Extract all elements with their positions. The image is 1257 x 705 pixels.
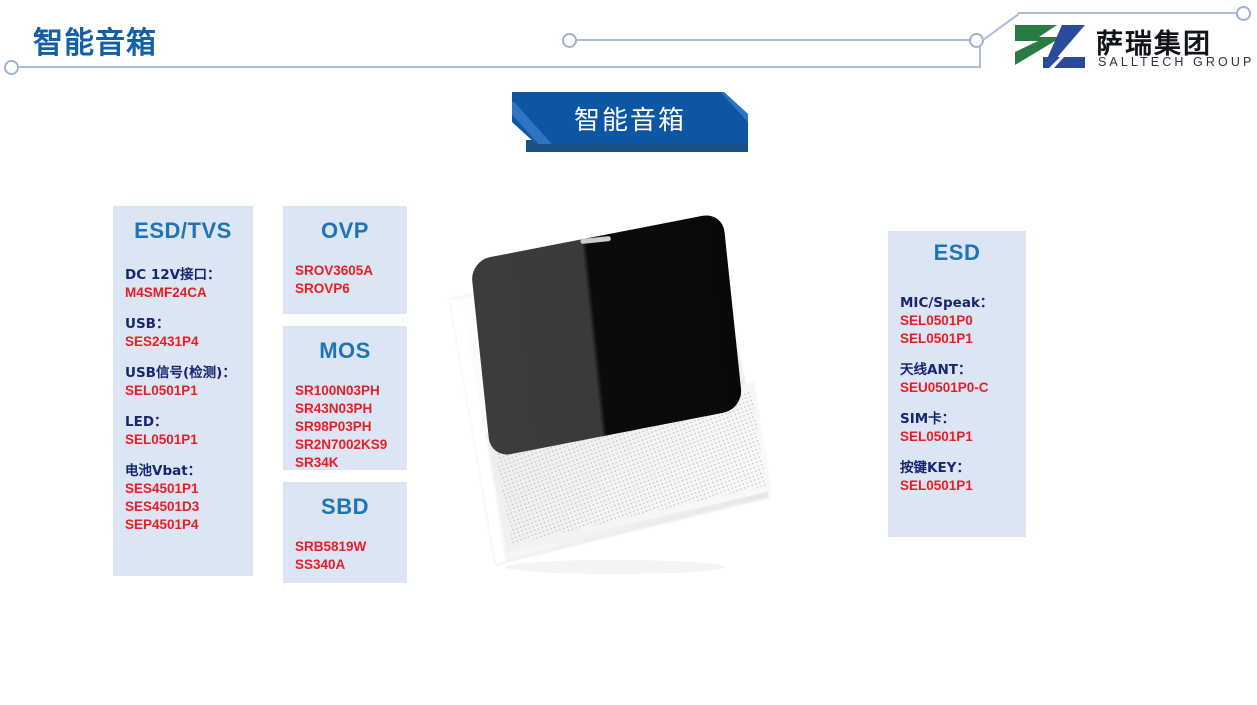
part-group-label: SIM卡： <box>900 410 1014 428</box>
card-body: SR100N03PH SR43N03PH SR98P03PH SR2N7002K… <box>283 364 407 472</box>
part-group: LED： SEL0501P1 <box>125 413 241 449</box>
part-number: SR100N03PH <box>295 382 395 400</box>
company-logo: 萨瑞集团 SALLTECH GROUP <box>1014 22 1244 74</box>
logo-company-name-en: SALLTECH GROUP <box>1098 55 1254 69</box>
card-title: MOS <box>283 326 407 364</box>
card-ovp[interactable]: OVP SROV3605A SROVP6 <box>283 206 407 314</box>
part-number: SEU0501P0-C <box>900 379 1014 397</box>
part-group: SIM卡： SEL0501P1 <box>900 410 1014 446</box>
part-number: SROVP6 <box>295 280 395 298</box>
part-number: SES4501P1 <box>125 480 241 498</box>
part-group-label: MIC/Speak： <box>900 294 1014 312</box>
part-number: SR34K <box>295 454 395 472</box>
header-line-left-circle <box>4 60 19 75</box>
part-number: SEL0501P1 <box>125 431 241 449</box>
card-sbd[interactable]: SBD SRB5819W SS340A <box>283 482 407 583</box>
card-body: SROV3605A SROVP6 <box>283 244 407 298</box>
card-title: SBD <box>283 482 407 520</box>
part-group-label: DC 12V接口： <box>125 266 241 284</box>
part-number: SR2N7002KS9 <box>295 436 395 454</box>
part-number: SR43N03PH <box>295 400 395 418</box>
part-number: SROV3605A <box>295 262 395 280</box>
header-line-upper <box>576 39 976 41</box>
part-group-label: 天线ANT： <box>900 361 1014 379</box>
card-title: ESD/TVS <box>113 206 253 244</box>
part-number: M4SMF24CA <box>125 284 241 302</box>
part-group-label: 电池Vbat： <box>125 462 241 480</box>
part-group-label: USB： <box>125 315 241 333</box>
page-header: 智能音箱 萨瑞集团 SALLTECH GROUP <box>0 0 1257 90</box>
page-title: 智能音箱 <box>33 18 157 62</box>
part-group: USB： SES2431P4 <box>125 315 241 351</box>
part-group: MIC/Speak： SEL0501P0 SEL0501P1 <box>900 294 1014 348</box>
part-number: SEL0501P1 <box>125 382 241 400</box>
part-group-label: LED： <box>125 413 241 431</box>
card-esd-tvs[interactable]: ESD/TVS DC 12V接口： M4SMF24CA USB： SES2431… <box>113 206 253 576</box>
card-body: SRB5819W SS340A <box>283 520 407 574</box>
card-mos[interactable]: MOS SR100N03PH SR43N03PH SR98P03PH SR2N7… <box>283 326 407 470</box>
card-esd[interactable]: ESD MIC/Speak： SEL0501P0 SEL0501P1 天线ANT… <box>888 231 1026 537</box>
header-line-right-node-circle <box>969 33 984 48</box>
product-image-smart-speaker <box>440 215 785 595</box>
banner-label: 智能音箱 <box>512 92 748 144</box>
salltech-logo-mark <box>1014 24 1086 70</box>
part-group-label: 按键KEY： <box>900 459 1014 477</box>
header-line-far-right-circle <box>1236 6 1251 21</box>
part-number: SS340A <box>295 556 395 574</box>
card-body: MIC/Speak： SEL0501P0 SEL0501P1 天线ANT： SE… <box>888 266 1026 495</box>
part-group-label: USB信号(检测)： <box>125 364 241 382</box>
header-line-lower <box>18 66 981 68</box>
header-line-mid-circle <box>562 33 577 48</box>
section-banner: 智能音箱 <box>512 92 752 154</box>
part-group: SROV3605A SROVP6 <box>295 262 395 298</box>
part-number: SR98P03PH <box>295 418 395 436</box>
part-group: 按键KEY： SEL0501P1 <box>900 459 1014 495</box>
part-number: SES4501D3 <box>125 498 241 516</box>
part-group: SRB5819W SS340A <box>295 538 395 574</box>
part-group: DC 12V接口： M4SMF24CA <box>125 266 241 302</box>
part-number: SEL0501P1 <box>900 428 1014 446</box>
part-number: SRB5819W <box>295 538 395 556</box>
part-group: USB信号(检测)： SEL0501P1 <box>125 364 241 400</box>
part-group: 天线ANT： SEU0501P0-C <box>900 361 1014 397</box>
part-group: 电池Vbat： SES4501P1 SES4501D3 SEP4501P4 <box>125 462 241 534</box>
device-shadow <box>505 560 725 574</box>
card-body: DC 12V接口： M4SMF24CA USB： SES2431P4 USB信号… <box>113 244 253 534</box>
part-number: SEL0501P1 <box>900 330 1014 348</box>
card-title: OVP <box>283 206 407 244</box>
part-number: SEP4501P4 <box>125 516 241 534</box>
part-number: SES2431P4 <box>125 333 241 351</box>
part-number: SEL0501P0 <box>900 312 1014 330</box>
card-title: ESD <box>888 231 1026 266</box>
part-number: SEL0501P1 <box>900 477 1014 495</box>
part-group: SR100N03PH SR43N03PH SR98P03PH SR2N7002K… <box>295 382 395 472</box>
header-line-top <box>1018 12 1240 14</box>
